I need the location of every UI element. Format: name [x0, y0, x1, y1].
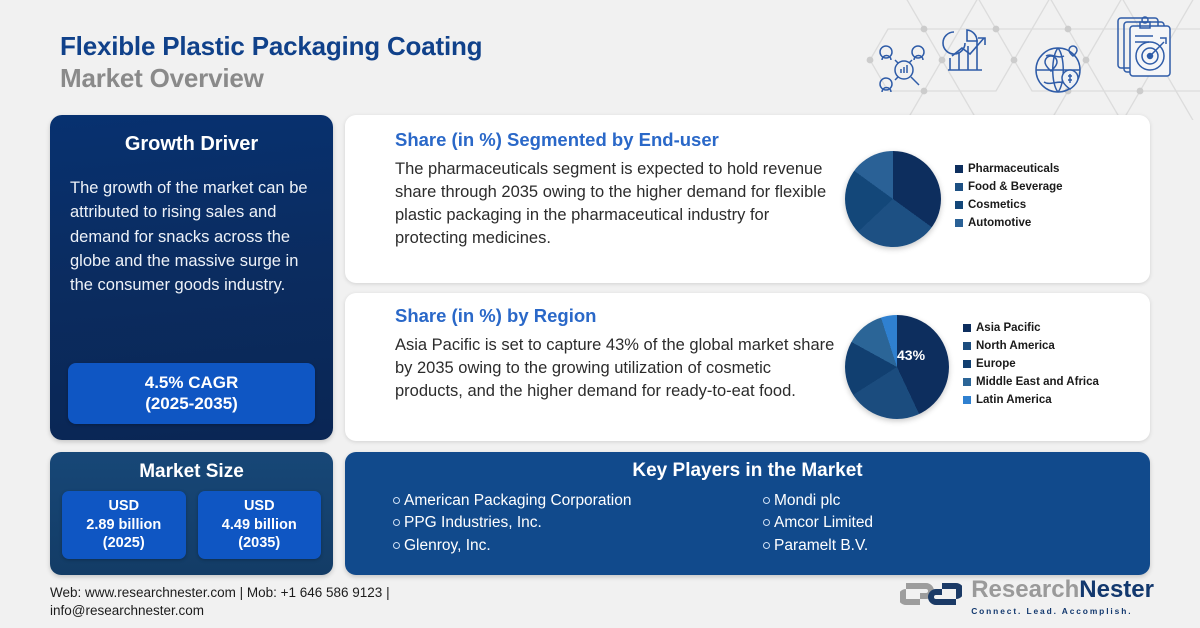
- legend-item: Middle East and Africa: [963, 376, 1099, 388]
- key-player-item: Glenroy, Inc.: [393, 535, 763, 557]
- end-user-card-body: The pharmaceuticals segment is expected …: [395, 158, 837, 250]
- key-player-name: PPG Industries, Inc.: [404, 512, 542, 534]
- legend-item: Automotive: [955, 217, 1063, 229]
- logo-name-nester: Nester: [1079, 576, 1154, 603]
- region-text-block: Share (in %) by Region Asia Pacific is s…: [345, 293, 845, 441]
- key-players-title: Key Players in the Market: [345, 460, 1150, 482]
- cagr-value: 4.5% CAGR: [68, 372, 315, 393]
- footer-contact-line1: Web: www.researchnester.com | Mob: +1 64…: [50, 584, 570, 602]
- key-player-name: Glenroy, Inc.: [404, 535, 491, 557]
- market-size-title: Market Size: [62, 461, 321, 483]
- circle-bullet-icon: [393, 542, 400, 549]
- legend-label: Asia Pacific: [976, 322, 1041, 334]
- legend-item: North America: [963, 340, 1099, 352]
- circle-bullet-icon: [763, 542, 770, 549]
- cagr-period: (2025-2035): [68, 393, 315, 414]
- people-network-icon: [880, 46, 924, 92]
- logo-name: ResearchNester: [971, 576, 1154, 603]
- legend-item: Pharmaceuticals: [955, 163, 1063, 175]
- market-size-card: Market Size USD 2.89 billion (2025) USD …: [50, 452, 333, 575]
- legend-item: Cosmetics: [955, 199, 1063, 211]
- legend-swatch: [955, 165, 963, 173]
- legend-label: Latin America: [976, 394, 1052, 406]
- market-size-year-2025: (2025): [86, 534, 161, 553]
- globe-commerce-icon: [1036, 46, 1080, 92]
- key-players-column-left: American Packaging CorporationPPG Indust…: [393, 490, 763, 557]
- growth-driver-card: Growth Driver The growth of the market c…: [50, 115, 333, 440]
- legend-label: North America: [976, 340, 1055, 352]
- market-size-value-2035: 4.49 billion: [222, 516, 297, 535]
- legend-swatch: [963, 324, 971, 332]
- brand-logo: ResearchNester Connect. Lead. Accomplish…: [900, 577, 1154, 616]
- key-player-item: Paramelt B.V.: [763, 535, 1133, 557]
- market-size-value-2025: 2.89 billion: [86, 516, 161, 535]
- circle-bullet-icon: [393, 497, 400, 504]
- key-player-item: Amcor Limited: [763, 512, 1133, 534]
- legend-swatch: [955, 201, 963, 209]
- circle-bullet-icon: [763, 519, 770, 526]
- key-players-column-right: Mondi plcAmcor LimitedParamelt B.V.: [763, 490, 1133, 557]
- legend-swatch: [955, 219, 963, 227]
- market-size-year-2035: (2035): [222, 534, 297, 553]
- key-player-item: Mondi plc: [763, 490, 1133, 512]
- end-user-pie-chart: [845, 151, 941, 247]
- circle-bullet-icon: [763, 497, 770, 504]
- logo-text: ResearchNester Connect. Lead. Accomplish…: [971, 578, 1154, 616]
- legend-label: Pharmaceuticals: [968, 163, 1059, 175]
- legend-swatch: [955, 183, 963, 191]
- end-user-card-title: Share (in %) Segmented by End-user: [395, 129, 837, 151]
- bar-chart-growth-icon: [943, 30, 985, 70]
- key-players-columns: American Packaging CorporationPPG Indust…: [345, 490, 1150, 557]
- logo-name-research: Research: [971, 576, 1079, 603]
- growth-driver-body: The growth of the market can be attribut…: [70, 176, 313, 297]
- end-user-text-block: Share (in %) Segmented by End-user The p…: [345, 115, 845, 283]
- clipboard-target-icon: [1118, 17, 1170, 76]
- circle-bullet-icon: [393, 519, 400, 526]
- legend-swatch: [963, 342, 971, 350]
- legend-item: Asia Pacific: [963, 322, 1099, 334]
- region-pie-wrap: 43%: [845, 315, 949, 419]
- region-chart-zone: 43% Asia PacificNorth AmericaEuropeMiddl…: [845, 293, 1150, 441]
- legend-item: Food & Beverage: [955, 181, 1063, 193]
- key-player-item: American Packaging Corporation: [393, 490, 763, 512]
- page-subtitle: Market Overview: [60, 62, 760, 94]
- key-players-card: Key Players in the Market American Packa…: [345, 452, 1150, 575]
- market-size-box-2025: USD 2.89 billion (2025): [62, 491, 186, 559]
- end-user-legend: PharmaceuticalsFood & BeverageCosmeticsA…: [955, 163, 1063, 235]
- key-player-name: Paramelt B.V.: [774, 535, 868, 557]
- chain-link-icon: [900, 577, 962, 616]
- legend-label: Automotive: [968, 217, 1031, 229]
- infographic-board: Growth Driver The growth of the market c…: [50, 115, 1150, 575]
- region-card-body: Asia Pacific is set to capture 43% of th…: [395, 334, 837, 403]
- key-player-name: Amcor Limited: [774, 512, 873, 534]
- region-card-title: Share (in %) by Region: [395, 305, 837, 327]
- page-header: Flexible Plastic Packaging Coating Marke…: [60, 30, 760, 94]
- footer-contact-line2: info@researchnester.com: [50, 602, 570, 620]
- legend-label: Cosmetics: [968, 199, 1026, 211]
- end-user-share-card: Share (in %) Segmented by End-user The p…: [345, 115, 1150, 283]
- legend-label: Middle East and Africa: [976, 376, 1099, 388]
- legend-item: Europe: [963, 358, 1099, 370]
- cagr-badge: 4.5% CAGR (2025-2035): [68, 363, 315, 425]
- legend-label: Europe: [976, 358, 1016, 370]
- key-player-name: Mondi plc: [774, 490, 840, 512]
- key-player-name: American Packaging Corporation: [404, 490, 631, 512]
- decorative-hexagon-pattern: [840, 0, 1200, 120]
- market-size-currency-2035: USD: [222, 497, 297, 516]
- market-size-box-2035: USD 4.49 billion (2035): [198, 491, 322, 559]
- region-pie-datalabel: 43%: [897, 347, 925, 363]
- growth-driver-title: Growth Driver: [70, 133, 313, 156]
- footer-contact: Web: www.researchnester.com | Mob: +1 64…: [50, 584, 570, 620]
- market-size-currency-2025: USD: [86, 497, 161, 516]
- market-size-values: USD 2.89 billion (2025) USD 4.49 billion…: [62, 491, 321, 559]
- logo-tagline: Connect. Lead. Accomplish.: [971, 606, 1154, 616]
- key-player-item: PPG Industries, Inc.: [393, 512, 763, 534]
- legend-swatch: [963, 396, 971, 404]
- legend-swatch: [963, 360, 971, 368]
- region-share-card: Share (in %) by Region Asia Pacific is s…: [345, 293, 1150, 441]
- region-pie-chart: [845, 315, 949, 419]
- legend-swatch: [963, 378, 971, 386]
- page-title: Flexible Plastic Packaging Coating: [60, 30, 760, 62]
- legend-label: Food & Beverage: [968, 181, 1063, 193]
- region-legend: Asia PacificNorth AmericaEuropeMiddle Ea…: [963, 322, 1099, 412]
- end-user-chart-zone: PharmaceuticalsFood & BeverageCosmeticsA…: [845, 115, 1150, 283]
- legend-item: Latin America: [963, 394, 1099, 406]
- end-user-pie-wrap: [845, 151, 941, 247]
